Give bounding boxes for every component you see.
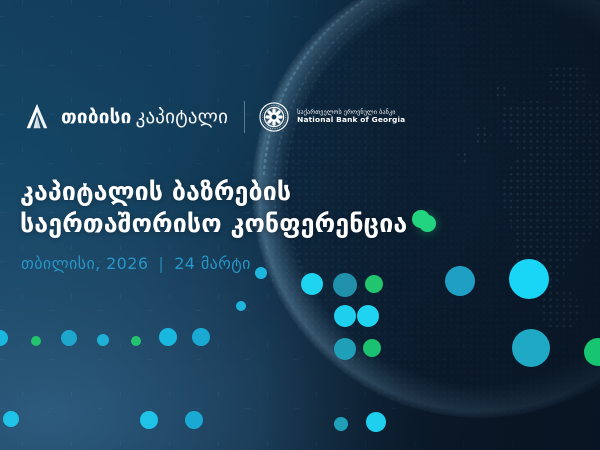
decor-dot bbox=[584, 338, 600, 366]
logo-divider bbox=[244, 101, 245, 133]
decor-dot bbox=[412, 210, 430, 228]
event-banner: თიბისიკაპიტალი საქართველ bbox=[0, 0, 600, 450]
national-bank-of-georgia-seal-icon bbox=[259, 102, 289, 132]
decor-dot bbox=[301, 273, 323, 295]
decor-dot bbox=[31, 336, 41, 346]
decor-dot bbox=[185, 411, 203, 429]
decor-dot bbox=[192, 328, 210, 346]
title-line-2-wrap: საერთაშორისო კონფერენცია bbox=[20, 208, 436, 240]
event-day-month: 24 მარტი bbox=[174, 254, 251, 273]
decor-dot bbox=[512, 329, 550, 367]
page-title: კაპიტალის ბაზრების საერთაშორისო კონფერენ… bbox=[20, 176, 436, 240]
nbg-name-ka: საქართველოს ეროვნული ბანკი bbox=[297, 109, 405, 116]
title-line-1: კაპიტალის ბაზრების bbox=[20, 176, 436, 208]
decor-dot bbox=[0, 330, 8, 346]
title-line-2: საერთაშორისო კონფერენცია bbox=[20, 209, 407, 238]
decor-dot bbox=[333, 273, 357, 297]
decor-dot bbox=[365, 275, 383, 293]
nbg-logo: საქართველოს ეროვნული ბანკი National Bank… bbox=[259, 102, 405, 132]
decor-dot bbox=[236, 301, 246, 311]
tbc-word-bold: თიბისი bbox=[61, 106, 132, 128]
logo-bar: თიბისიკაპიტალი საქართველ bbox=[22, 96, 405, 138]
decor-dot bbox=[445, 266, 475, 296]
decor-dot bbox=[131, 336, 141, 346]
decor-dot bbox=[140, 411, 158, 429]
tbc-capital-wordmark: თიბისიკაპიტალი bbox=[61, 108, 228, 127]
decor-dot bbox=[334, 305, 356, 327]
decor-dot bbox=[159, 328, 177, 346]
decor-dot bbox=[366, 412, 386, 432]
decor-dot bbox=[334, 417, 348, 431]
decor-dot bbox=[61, 330, 77, 346]
nbg-name-block: საქართველოს ეროვნული ბანკი National Bank… bbox=[297, 109, 405, 125]
event-dateline: თბილისი, 2026 | 24 მარტი bbox=[21, 254, 251, 273]
dateline-separator: | bbox=[158, 254, 164, 273]
event-place-year: თბილისი, 2026 bbox=[21, 254, 148, 273]
nbg-name-en: National Bank of Georgia bbox=[297, 116, 405, 125]
decor-dot bbox=[97, 334, 109, 346]
decor-dot bbox=[509, 259, 549, 299]
decor-dot bbox=[363, 339, 381, 357]
tbc-word-light: კაპიტალი bbox=[136, 106, 229, 128]
decor-dot bbox=[334, 338, 356, 360]
tbc-triangle-logo bbox=[22, 102, 52, 132]
decor-dot bbox=[357, 305, 379, 327]
decor-dot bbox=[3, 411, 19, 427]
decor-dot bbox=[255, 267, 267, 279]
